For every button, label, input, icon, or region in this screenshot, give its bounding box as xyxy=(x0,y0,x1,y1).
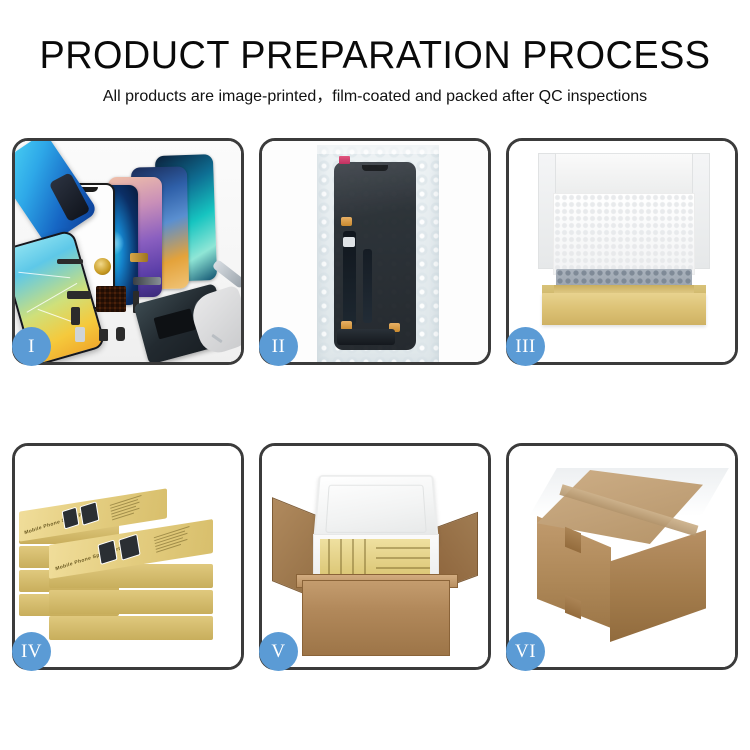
retail-box-r2 xyxy=(49,590,213,614)
step-badge-6: VI xyxy=(506,632,545,671)
retail-box-r3 xyxy=(49,616,213,640)
speaker-coil-part xyxy=(94,258,111,275)
flex-cable-part-a xyxy=(130,253,148,262)
red-label-tag xyxy=(339,156,350,164)
process-step-card-2[interactable]: II xyxy=(259,138,491,365)
bag-seal xyxy=(317,145,439,154)
step-badge-2: II xyxy=(259,327,298,366)
page-title: PRODUCT PREPARATION PROCESS xyxy=(11,34,739,78)
step-6-photo xyxy=(509,446,735,667)
process-step-card-1[interactable]: I xyxy=(12,138,244,365)
connector-strip-part xyxy=(57,259,83,264)
carton-body xyxy=(302,580,450,656)
process-step-card-5[interactable]: V xyxy=(259,443,491,670)
retail-box-spec-lines xyxy=(110,495,144,522)
step-badge-1: I xyxy=(12,327,51,366)
step-badge-3: III xyxy=(506,327,545,366)
flex-cable-part-c xyxy=(71,307,80,325)
bubble-wrap-bag xyxy=(317,145,439,362)
connector-block xyxy=(337,329,395,345)
step-2-photo xyxy=(262,141,488,362)
flex-cable-part-b xyxy=(67,291,91,299)
camera-part xyxy=(99,329,108,341)
page-subtitle: All products are image-printed，film-coat… xyxy=(0,86,750,108)
step-3-photo xyxy=(509,141,735,362)
retail-box-phone-image-d xyxy=(118,534,140,561)
retail-box-stack: Mobile Phone Spare Parts Mobile Phone Sp… xyxy=(19,468,241,654)
screw-tray-part xyxy=(96,286,126,312)
process-step-card-3[interactable]: III xyxy=(506,138,738,365)
kraft-box-front xyxy=(542,293,706,325)
retail-box-spec-lines-2 xyxy=(154,526,192,555)
step-badge-5: V xyxy=(259,632,298,671)
battery-connector-part xyxy=(75,327,85,342)
flex-cable-secondary xyxy=(363,249,372,323)
retail-box-phone-image-c xyxy=(97,539,117,565)
white-foam-sheet xyxy=(553,193,695,275)
gold-connector-a xyxy=(341,217,352,226)
step-badge-4: IV xyxy=(12,632,51,671)
antenna-part xyxy=(133,277,161,285)
ic-chip xyxy=(343,237,355,247)
process-step-card-6[interactable]: VI xyxy=(506,443,738,670)
page-header: PRODUCT PREPARATION PROCESS All products… xyxy=(0,0,750,120)
step-4-photo: Mobile Phone Spare Parts Mobile Phone Sp… xyxy=(15,446,241,667)
process-step-card-4[interactable]: Mobile Phone Spare Parts Mobile Phone Sp… xyxy=(12,443,244,670)
retail-box-phone-image-a xyxy=(62,507,80,530)
product-preparation-page: PRODUCT PREPARATION PROCESS All products… xyxy=(0,0,750,750)
retail-box-phone-image-b xyxy=(80,501,100,526)
button-part xyxy=(116,327,125,341)
step-5-photo xyxy=(262,446,488,667)
box-lid-back xyxy=(538,153,710,195)
process-step-grid: I II xyxy=(0,138,750,698)
step-1-photo xyxy=(15,141,241,362)
